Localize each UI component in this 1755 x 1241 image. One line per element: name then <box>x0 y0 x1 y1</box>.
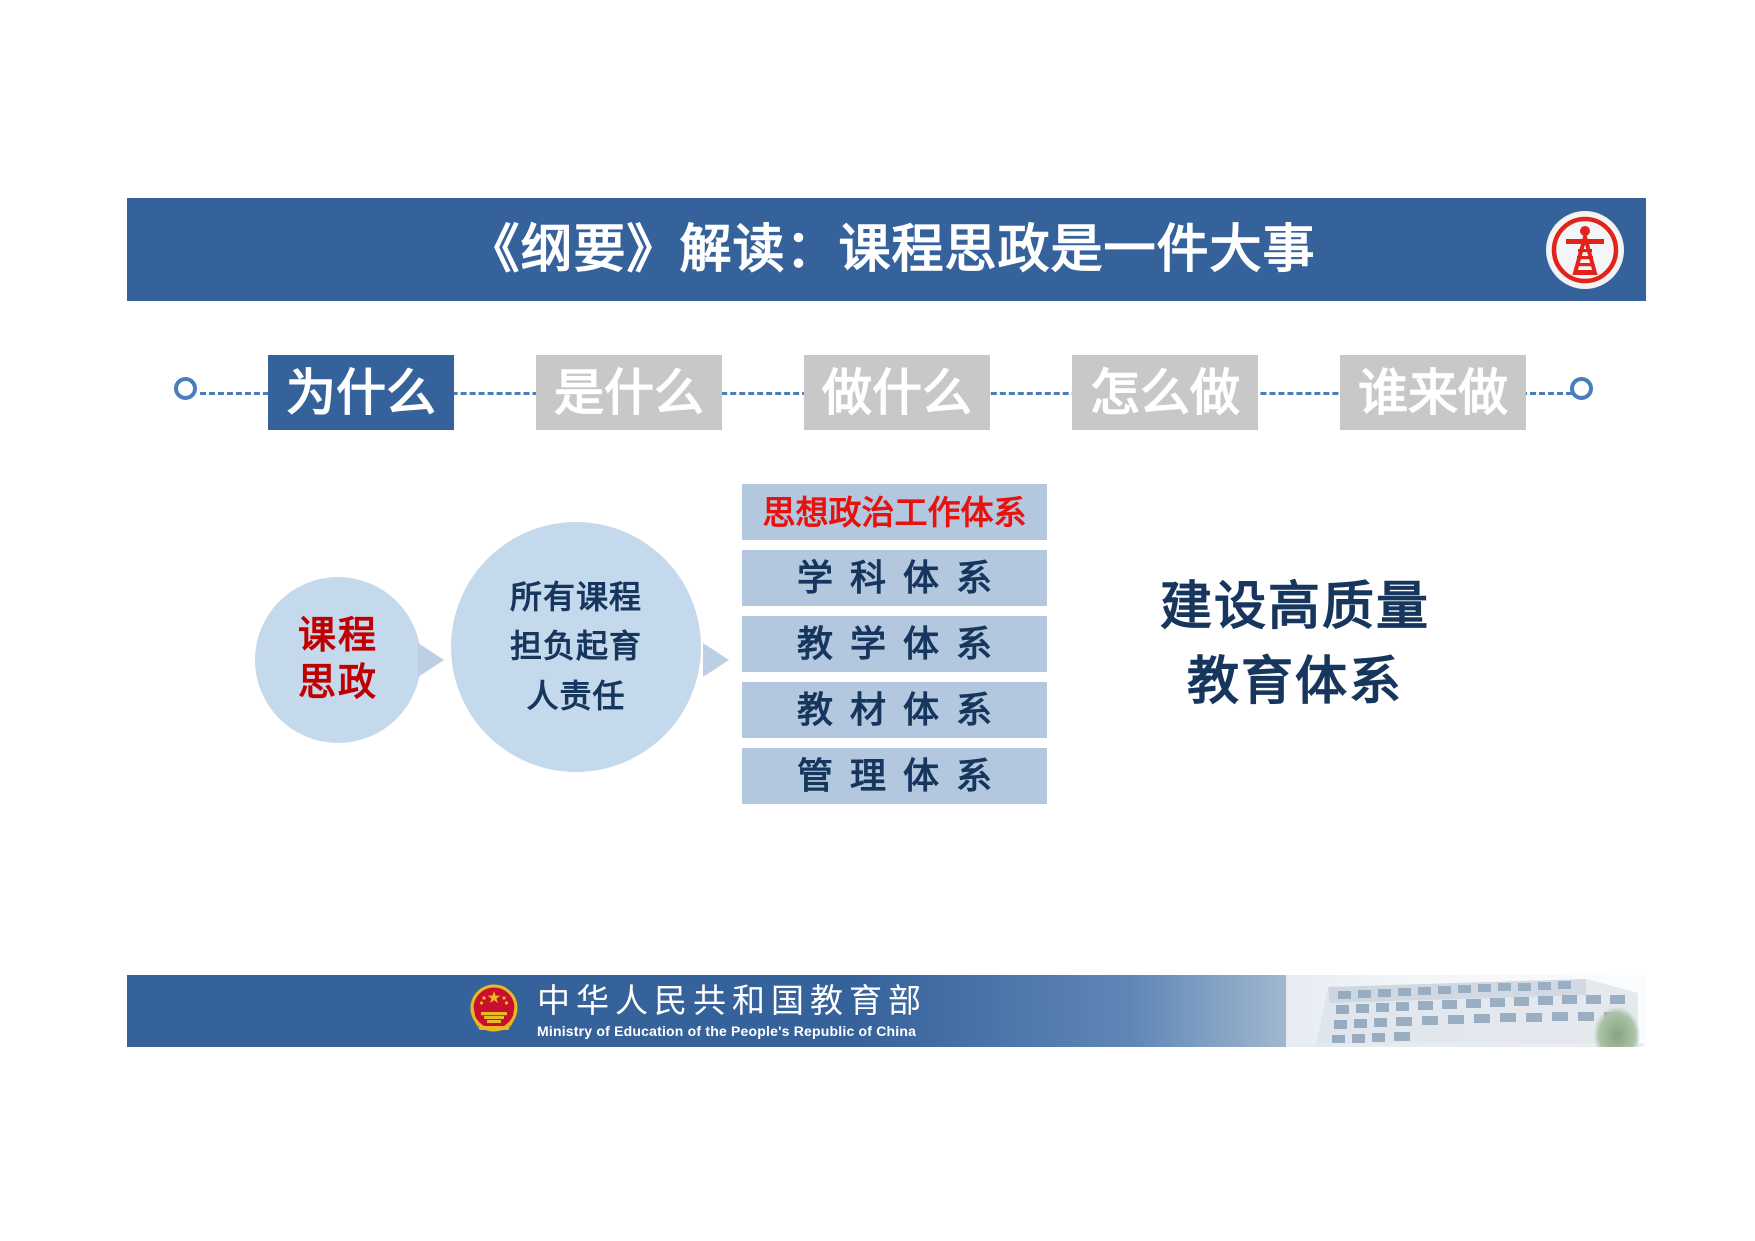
outcome-slogan: 建设高质量 教育体系 <box>1085 570 1505 721</box>
slogan-line2: 教育体系 <box>1085 645 1505 720</box>
system-box-label-1: 学科体系 <box>780 560 1009 596</box>
concept-diagram: 课程 思政 所有课程 担负起育 人责任 思想政治工作体系 学科体系 教学体系 教… <box>255 470 1555 860</box>
footer-text-group: 中华人民共和国教育部 Ministry of Education of the … <box>537 982 927 1040</box>
diagram-node-curriculum-ideology: 课程 思政 <box>255 577 421 743</box>
china-national-emblem-icon <box>467 982 521 1040</box>
system-box-stack: 思想政治工作体系 学科体系 教学体系 教材体系 管理体系 <box>742 484 1047 804</box>
circle-small-line1: 课程 <box>298 613 378 661</box>
circle-large-line1: 所有课程 <box>510 573 642 623</box>
system-box-label-3: 教材体系 <box>780 692 1009 728</box>
nav-tab-what[interactable]: 是什么 <box>536 355 722 430</box>
system-box-teaching: 教学体系 <box>742 616 1047 672</box>
system-box-label-2: 教学体系 <box>780 626 1009 662</box>
system-box-management: 管理体系 <box>742 748 1047 804</box>
nav-tab-what-label: 是什么 <box>554 368 704 418</box>
footer-content: 中华人民共和国教育部 Ministry of Education of the … <box>127 975 1646 1047</box>
circle-endpoint-icon-right <box>1570 377 1593 400</box>
slogan-line1: 建设高质量 <box>1085 570 1505 645</box>
stage-nav: 为什么 是什么 做什么 怎么做 谁来做 <box>170 345 1600 440</box>
circle-endpoint-icon-left <box>174 377 197 400</box>
nav-tab-how[interactable]: 怎么做 <box>1072 355 1258 430</box>
ministry-name-en: Ministry of Education of the People's Re… <box>537 1022 927 1040</box>
nav-tab-why[interactable]: 为什么 <box>268 355 454 430</box>
university-emblem-icon <box>1546 211 1624 289</box>
nav-tab-do-what[interactable]: 做什么 <box>804 355 990 430</box>
circle-small-line2: 思政 <box>298 660 378 708</box>
slide-title-bar: 《纲要》解读：课程思政是一件大事 <box>127 198 1646 301</box>
nav-tab-who[interactable]: 谁来做 <box>1340 355 1526 430</box>
diagram-node-all-courses: 所有课程 担负起育 人责任 <box>451 522 701 772</box>
system-box-textbook: 教材体系 <box>742 682 1047 738</box>
ministry-name-cn: 中华人民共和国教育部 <box>537 982 927 1020</box>
arrow-right-icon-2 <box>703 643 729 677</box>
system-box-label-4: 管理体系 <box>780 758 1009 794</box>
slide-footer: 中华人民共和国教育部 Ministry of Education of the … <box>127 975 1646 1047</box>
nav-tab-why-label: 为什么 <box>286 368 436 418</box>
nav-tab-do-what-label: 做什么 <box>822 368 972 418</box>
stage-nav-items: 为什么 是什么 做什么 怎么做 谁来做 <box>268 345 1526 440</box>
page-title: 《纲要》解读：课程思政是一件大事 <box>467 224 1315 276</box>
circle-large-line2: 担负起育 <box>510 622 642 672</box>
system-box-label-0: 思想政治工作体系 <box>763 496 1027 529</box>
nav-tab-who-label: 谁来做 <box>1358 368 1508 418</box>
arrow-right-icon-1 <box>418 643 444 677</box>
slide-canvas: 《纲要》解读：课程思政是一件大事 为什么 <box>0 0 1755 1241</box>
system-box-ideological-political-work: 思想政治工作体系 <box>742 484 1047 540</box>
circle-large-line3: 人责任 <box>526 672 625 722</box>
system-box-discipline: 学科体系 <box>742 550 1047 606</box>
nav-tab-how-label: 怎么做 <box>1090 368 1240 418</box>
